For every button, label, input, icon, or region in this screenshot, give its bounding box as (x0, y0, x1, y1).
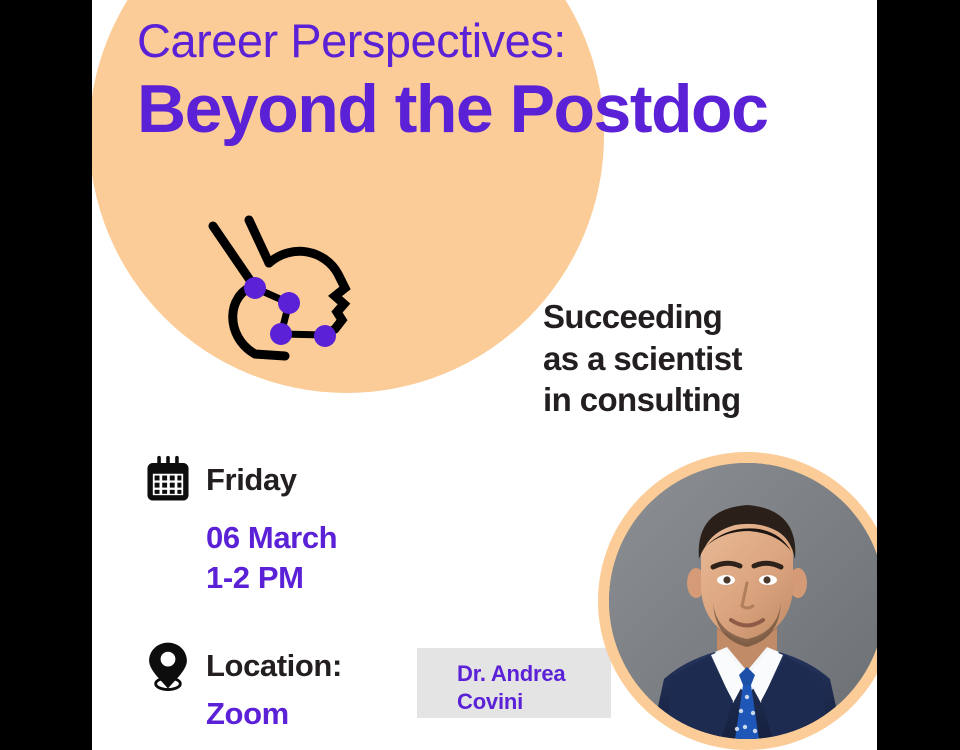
headline-block: Career Perspectives: Beyond the Postdoc (137, 16, 877, 148)
subtitle-line-3: in consulting (543, 379, 873, 421)
location-label: Location: (206, 648, 342, 684)
head-neural-network-icon (197, 208, 362, 368)
time-value: 1-2 PM (206, 558, 337, 598)
page-title-line-1: Career Perspectives: (137, 16, 877, 65)
speaker-photo-ring (598, 452, 877, 750)
event-poster: Career Perspectives: Beyond the Postdoc (92, 0, 877, 750)
date-row: Friday (140, 452, 337, 508)
page-title-line-2: Beyond the Postdoc (137, 71, 877, 147)
poster-stage: Career Perspectives: Beyond the Postdoc (0, 0, 960, 750)
speaker-name-line-1: Dr. Andrea (457, 660, 617, 688)
calendar-icon (140, 452, 196, 508)
date-block: Friday 06 March 1-2 PM (140, 452, 337, 597)
location-row: Location: (140, 638, 342, 694)
location-block: Location: Zoom (140, 638, 342, 734)
subtitle-line-2: as a scientist (543, 338, 873, 380)
date-day-label: Friday (206, 462, 297, 498)
subtitle-block: Succeeding as a scientist in consulting (543, 296, 873, 421)
speaker-photo (609, 463, 877, 739)
subtitle-line-1: Succeeding (543, 296, 873, 338)
location-value: Zoom (206, 694, 342, 734)
speaker-name: Dr. Andrea Covini (457, 660, 617, 715)
date-value: 06 March (206, 518, 337, 558)
map-pin-icon (140, 638, 196, 694)
speaker-name-line-2: Covini (457, 688, 617, 716)
date-values: 06 March 1-2 PM (206, 518, 337, 597)
